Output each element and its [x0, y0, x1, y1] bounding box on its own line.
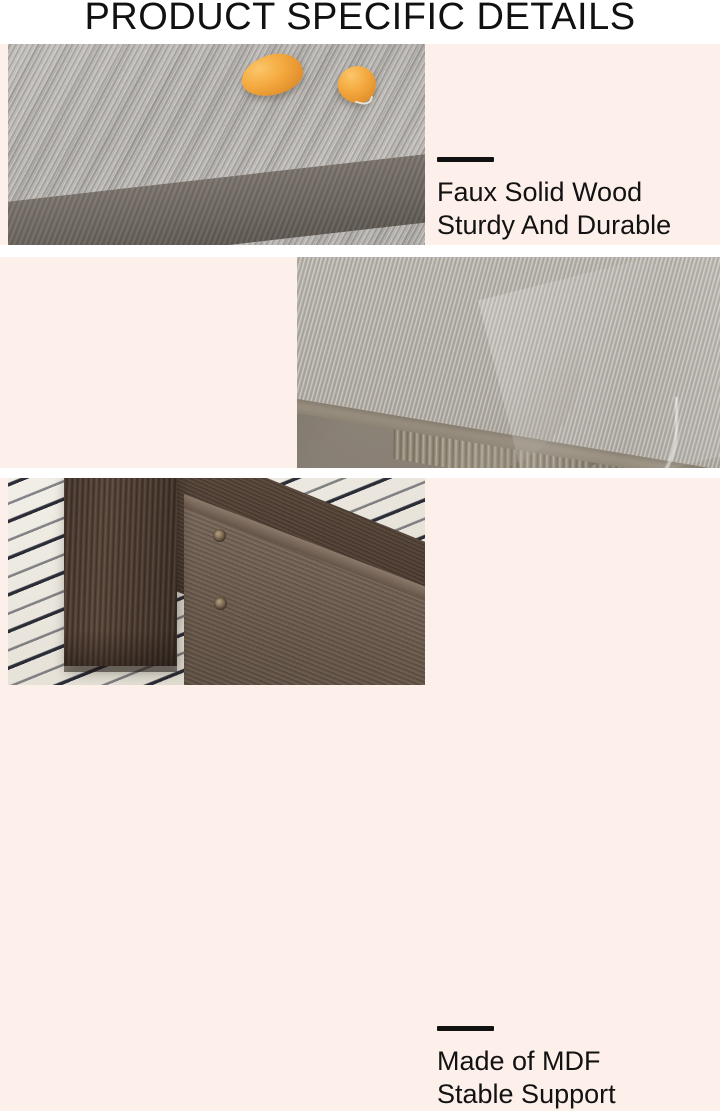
product-photo-rounded-corner	[297, 257, 720, 468]
photo-tabletop-content	[8, 44, 425, 245]
detail-section-faux-solid-wood: Faux Solid Wood Sturdy And Durable	[0, 44, 720, 245]
table-leg-foot-shadow	[64, 630, 177, 672]
page-title-bar: PRODUCT SPECIFIC DETAILS	[0, 0, 720, 44]
caption-rule	[437, 157, 494, 162]
caption-line-2: Stable Support	[437, 1078, 616, 1111]
caption-made-of-mdf: Made of MDF Stable Support	[437, 1026, 616, 1111]
row-divider-1	[0, 245, 720, 257]
caption-line-1: Faux Solid Wood	[437, 176, 671, 209]
row-divider-2	[0, 468, 720, 478]
caption-line-2: Sturdy And Durable	[437, 209, 671, 242]
caption-rule	[437, 1026, 494, 1031]
page-title: PRODUCT SPECIFIC DETAILS	[0, 0, 720, 39]
photo-leg-shelf-content	[8, 478, 425, 685]
screw-upper	[213, 529, 226, 542]
detail-section-rounded-edge: Rounded Edge Anti-knock	[0, 257, 720, 468]
product-photo-tabletop	[8, 44, 425, 245]
caption-line-1: Made of MDF	[437, 1045, 616, 1078]
screw-lower	[214, 597, 227, 610]
detail-section-made-of-mdf: Made of MDF Stable Support	[0, 478, 720, 685]
product-photo-leg-shelf	[8, 478, 425, 685]
photo-rounded-corner-content	[297, 257, 720, 468]
caption-faux-solid-wood: Faux Solid Wood Sturdy And Durable	[437, 157, 671, 242]
